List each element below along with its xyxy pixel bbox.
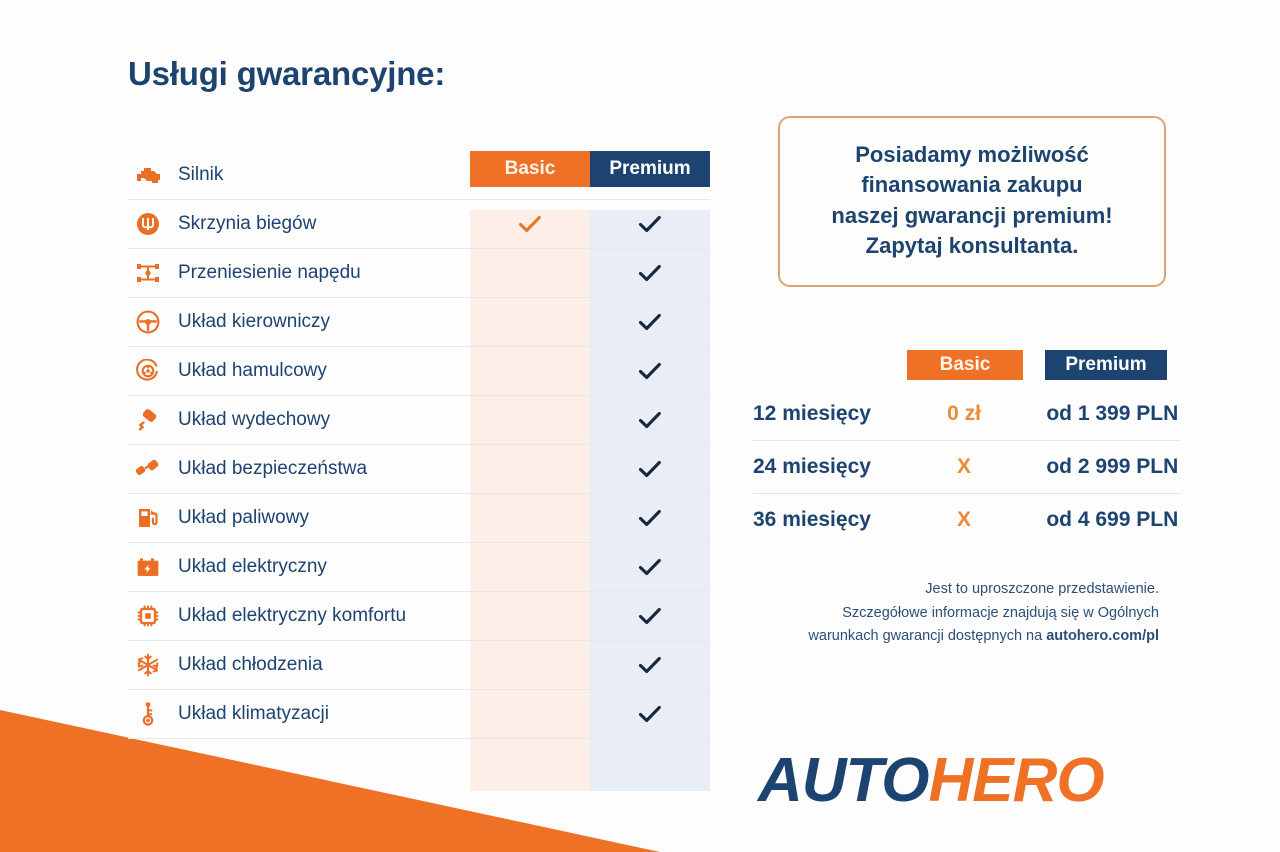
- feature-row: Układ paliwowy: [128, 493, 710, 542]
- pricing-term: 12 miesięcy: [753, 402, 906, 426]
- feature-premium-cell: [590, 592, 710, 640]
- feature-premium-cell: [590, 445, 710, 493]
- page-title: Usługi gwarancyjne:: [128, 56, 728, 92]
- logo-auto-text: AUTO: [758, 746, 929, 815]
- pricing-basic-value: X: [906, 508, 1021, 532]
- feature-label: Skrzynia biegów: [168, 213, 316, 235]
- feature-premium-cell: [590, 298, 710, 346]
- feature-row: Układ elektryczny komfortu: [128, 591, 710, 640]
- pricing-term: 36 miesięcy: [753, 508, 906, 532]
- feature-premium-cell: [590, 396, 710, 444]
- features-section: Usługi gwarancyjne: Basic Premium Silnik…: [128, 56, 728, 739]
- feature-premium-cell: [590, 543, 710, 591]
- snowflake-icon: [128, 653, 168, 677]
- feature-premium-cell: [590, 494, 710, 542]
- gearbox-icon: [128, 212, 168, 236]
- promo-line-3: naszej gwarancji premium!: [798, 201, 1146, 231]
- feature-basic-cell: [470, 494, 590, 542]
- feature-label: Układ hamulcowy: [168, 360, 327, 382]
- feature-row-list: SilnikSkrzynia biegówPrzeniesienie napęd…: [128, 151, 710, 739]
- feature-row: Układ chłodzenia: [128, 640, 710, 689]
- brake-disc-icon: [128, 359, 168, 383]
- offers-section: Posiadamy możliwość finansowania zakupu …: [735, 56, 1195, 649]
- pricing-premium-value: od 2 999 PLN: [1044, 455, 1181, 479]
- thermometer-icon: [128, 702, 168, 726]
- pricing-header-premium: Premium: [1045, 350, 1167, 380]
- pricing-basic-value: X: [906, 455, 1021, 479]
- feature-comparison-table: Basic Premium SilnikSkrzynia biegówPrzen…: [128, 151, 710, 739]
- feature-label: Układ elektryczny komfortu: [168, 605, 406, 627]
- feature-row: Skrzynia biegów: [128, 199, 710, 248]
- engine-icon: [128, 165, 168, 185]
- pricing-row: 36 miesięcyXod 4 699 PLN: [753, 494, 1181, 546]
- feature-label: Układ bezpieczeństwa: [168, 458, 367, 480]
- exhaust-muffler-icon: [128, 408, 168, 432]
- feature-label: Układ chłodzenia: [168, 654, 323, 676]
- feature-row: Układ elektryczny: [128, 542, 710, 591]
- feature-basic-cell: [470, 396, 590, 444]
- pricing-term: 24 miesięcy: [753, 455, 906, 479]
- disclaimer-line-3-prefix: warunkach gwarancji dostępnych na: [808, 628, 1046, 644]
- drivetrain-axle-icon: [128, 262, 168, 284]
- feature-basic-cell: [470, 445, 590, 493]
- disclaimer-line-2: Szczegółowe informacje znajdują się w Og…: [735, 602, 1159, 625]
- feature-label: Układ paliwowy: [168, 507, 309, 529]
- feature-basic-cell: [470, 298, 590, 346]
- feature-table-headers: Basic Premium: [470, 151, 710, 187]
- feature-premium-cell: [590, 249, 710, 297]
- logo-hero-text: HERO: [929, 746, 1104, 815]
- pricing-premium-value: od 1 399 PLN: [1044, 402, 1181, 426]
- feature-basic-cell: [470, 592, 590, 640]
- feature-basic-cell: [470, 249, 590, 297]
- financing-promo-box: Posiadamy możliwość finansowania zakupu …: [778, 116, 1166, 287]
- feature-header-premium: Premium: [590, 151, 710, 187]
- pricing-row-list: 12 miesięcy0 złod 1 399 PLN24 miesięcyXo…: [753, 388, 1181, 546]
- feature-basic-cell: [470, 690, 590, 738]
- feature-row: Układ kierowniczy: [128, 297, 710, 346]
- feature-label: Układ kierowniczy: [168, 311, 330, 333]
- feature-premium-cell: [590, 641, 710, 689]
- feature-label: Układ elektryczny: [168, 556, 327, 578]
- pricing-table: Basic Premium 12 miesięcy0 złod 1 399 PL…: [753, 350, 1181, 546]
- promo-line-4: Zapytaj konsultanta.: [798, 231, 1146, 261]
- pricing-row: 12 miesięcy0 złod 1 399 PLN: [753, 388, 1181, 441]
- feature-row: Układ klimatyzacji: [128, 689, 710, 739]
- seatbelt-icon: [128, 458, 168, 480]
- promo-line-1: Posiadamy możliwość: [798, 140, 1146, 170]
- autohero-logo: AUTOHERO: [758, 745, 1104, 816]
- feature-label: Układ wydechowy: [168, 409, 330, 431]
- feature-label: Silnik: [168, 164, 223, 186]
- disclaimer-line-3: warunkach gwarancji dostępnych na autohe…: [735, 625, 1159, 648]
- feature-premium-cell: [590, 347, 710, 395]
- feature-basic-cell: [470, 641, 590, 689]
- steering-wheel-icon: [128, 310, 168, 334]
- promo-line-2: finansowania zakupu: [798, 170, 1146, 200]
- feature-label: Przeniesienie napędu: [168, 262, 361, 284]
- pricing-basic-value: 0 zł: [906, 402, 1021, 426]
- feature-label: Układ klimatyzacji: [168, 703, 329, 725]
- feature-premium-cell: [590, 690, 710, 738]
- feature-basic-cell: [470, 200, 590, 248]
- feature-row: Układ wydechowy: [128, 395, 710, 444]
- feature-row: Układ hamulcowy: [128, 346, 710, 395]
- pricing-row: 24 miesięcyXod 2 999 PLN: [753, 441, 1181, 494]
- microchip-icon: [128, 604, 168, 628]
- fuel-pump-icon: [128, 506, 168, 530]
- feature-row: Układ bezpieczeństwa: [128, 444, 710, 493]
- disclaimer-text: Jest to uproszczone przedstawienie. Szcz…: [735, 578, 1195, 648]
- pricing-premium-value: od 4 699 PLN: [1044, 508, 1181, 532]
- feature-premium-cell: [590, 200, 710, 248]
- feature-header-basic: Basic: [470, 151, 590, 187]
- pricing-table-headers: Basic Premium: [753, 350, 1181, 380]
- feature-row: Przeniesienie napędu: [128, 248, 710, 297]
- feature-basic-cell: [470, 347, 590, 395]
- disclaimer-line-1: Jest to uproszczone przedstawienie.: [735, 578, 1159, 601]
- pricing-header-basic: Basic: [907, 350, 1023, 380]
- autohero-website-link[interactable]: autohero.com/pl: [1046, 628, 1159, 644]
- battery-icon: [128, 556, 168, 578]
- warranty-services-infographic: Usługi gwarancyjne: Basic Premium Silnik…: [0, 0, 1280, 852]
- feature-basic-cell: [470, 543, 590, 591]
